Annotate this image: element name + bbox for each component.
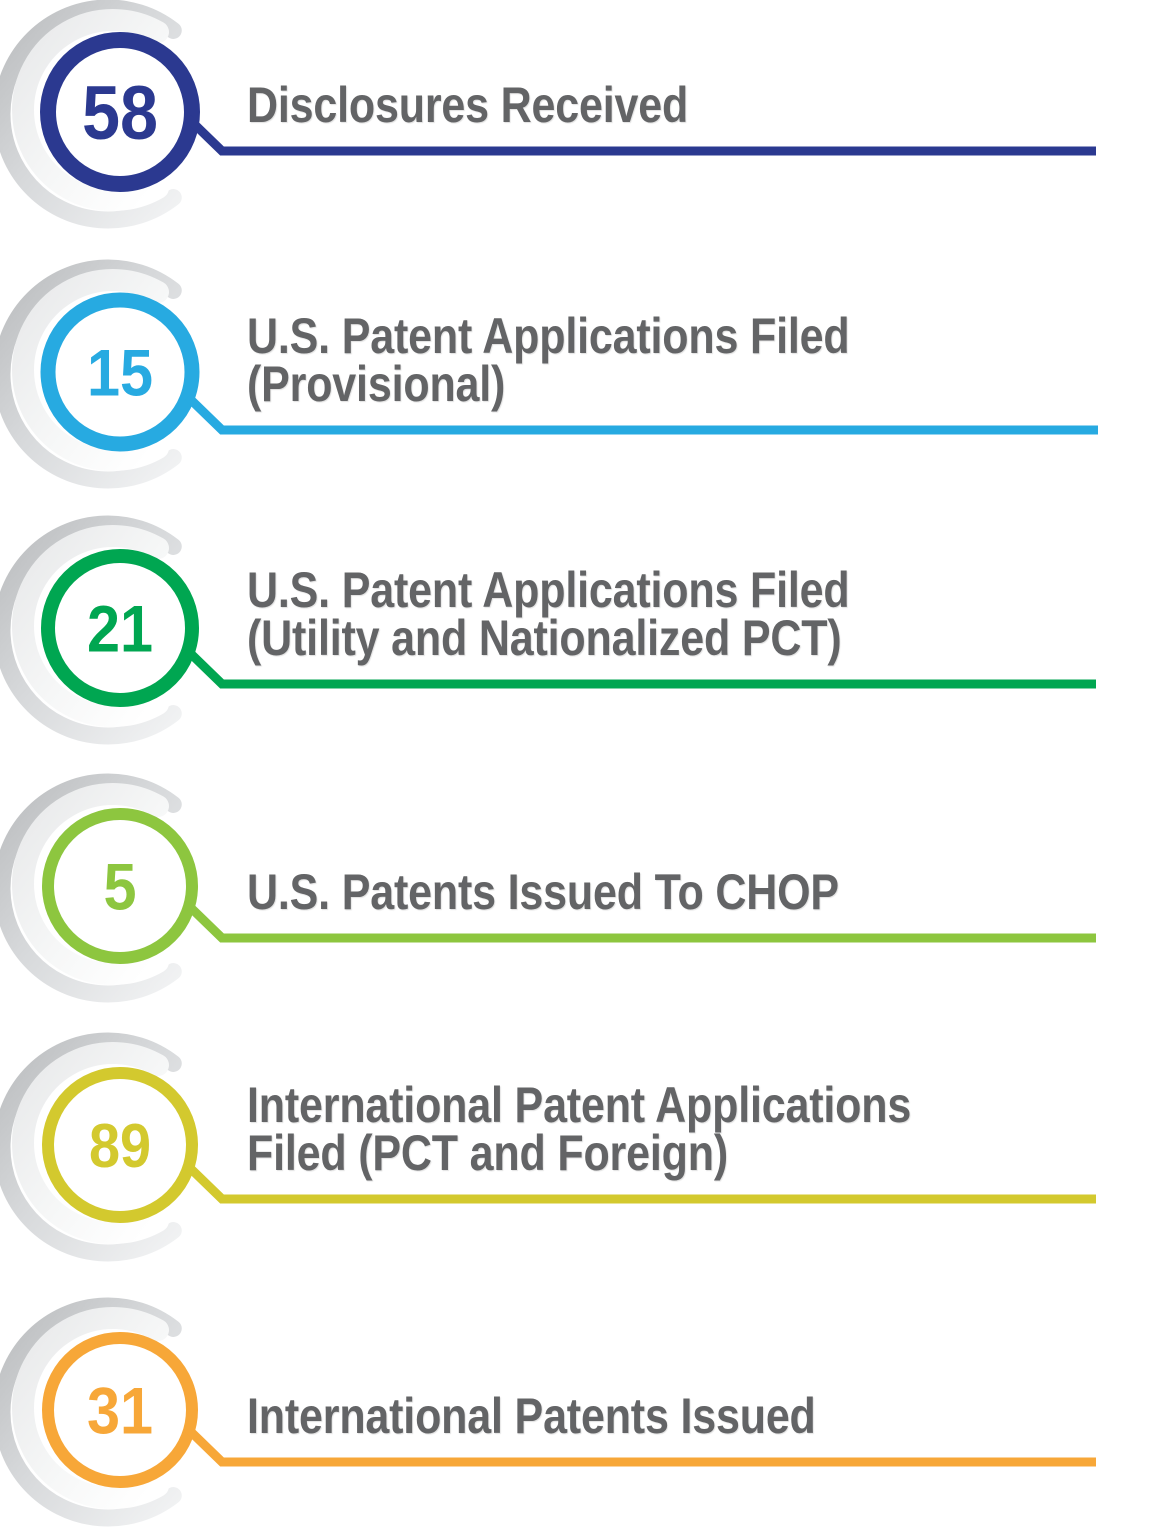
stat-label: U.S. Patent Applications Filed(Provision… xyxy=(247,312,1150,408)
stat-label: U.S. Patents Issued To CHOP xyxy=(247,868,1150,916)
ring-counter-icon: 89 xyxy=(0,1027,236,1263)
stat-label-line: International Patent Applications xyxy=(247,1081,1150,1129)
stat-badge[interactable]: 58 xyxy=(0,0,236,230)
stat-badge[interactable]: 89 xyxy=(0,1027,236,1263)
ring-counter-icon: 31 xyxy=(0,1292,236,1528)
stat-label-line: Filed (PCT and Foreign) xyxy=(247,1129,1150,1177)
infographic-canvas: 58Disclosures Received15U.S. Patent Appl… xyxy=(0,0,1170,1526)
badge-number: 89 xyxy=(89,1112,151,1180)
stat-label-line: U.S. Patent Applications Filed xyxy=(247,312,1150,360)
stat-badge[interactable]: 21 xyxy=(0,510,236,746)
stat-badge[interactable]: 5 xyxy=(0,768,236,1004)
stat-label: International Patents Issued xyxy=(247,1392,1150,1440)
stat-label-line: (Utility and Nationalized PCT) xyxy=(247,614,1150,662)
badge-number: 5 xyxy=(103,851,136,925)
badge-number: 31 xyxy=(87,1375,153,1449)
stat-label-line: U.S. Patent Applications Filed xyxy=(247,566,1150,614)
ring-counter-icon: 21 xyxy=(0,510,236,746)
badge-number: 58 xyxy=(82,72,158,156)
ring-counter-icon: 58 xyxy=(0,0,236,230)
stat-label: Disclosures Received xyxy=(247,81,1150,129)
badge-number: 21 xyxy=(87,593,153,667)
stat-label-line: U.S. Patents Issued To CHOP xyxy=(247,868,1150,916)
stat-label-line: (Provisional) xyxy=(247,360,1150,408)
stat-label: U.S. Patent Applications Filed(Utility a… xyxy=(247,566,1150,662)
stat-label: International Patent ApplicationsFiled (… xyxy=(247,1081,1150,1177)
stat-badge[interactable]: 15 xyxy=(0,254,236,490)
ring-counter-icon: 15 xyxy=(0,254,236,490)
stat-label-line: International Patents Issued xyxy=(247,1392,1150,1440)
stat-badge[interactable]: 31 xyxy=(0,1292,236,1528)
ring-counter-icon: 5 xyxy=(0,768,236,1004)
stat-label-line: Disclosures Received xyxy=(247,81,1150,129)
badge-number: 15 xyxy=(87,337,153,411)
